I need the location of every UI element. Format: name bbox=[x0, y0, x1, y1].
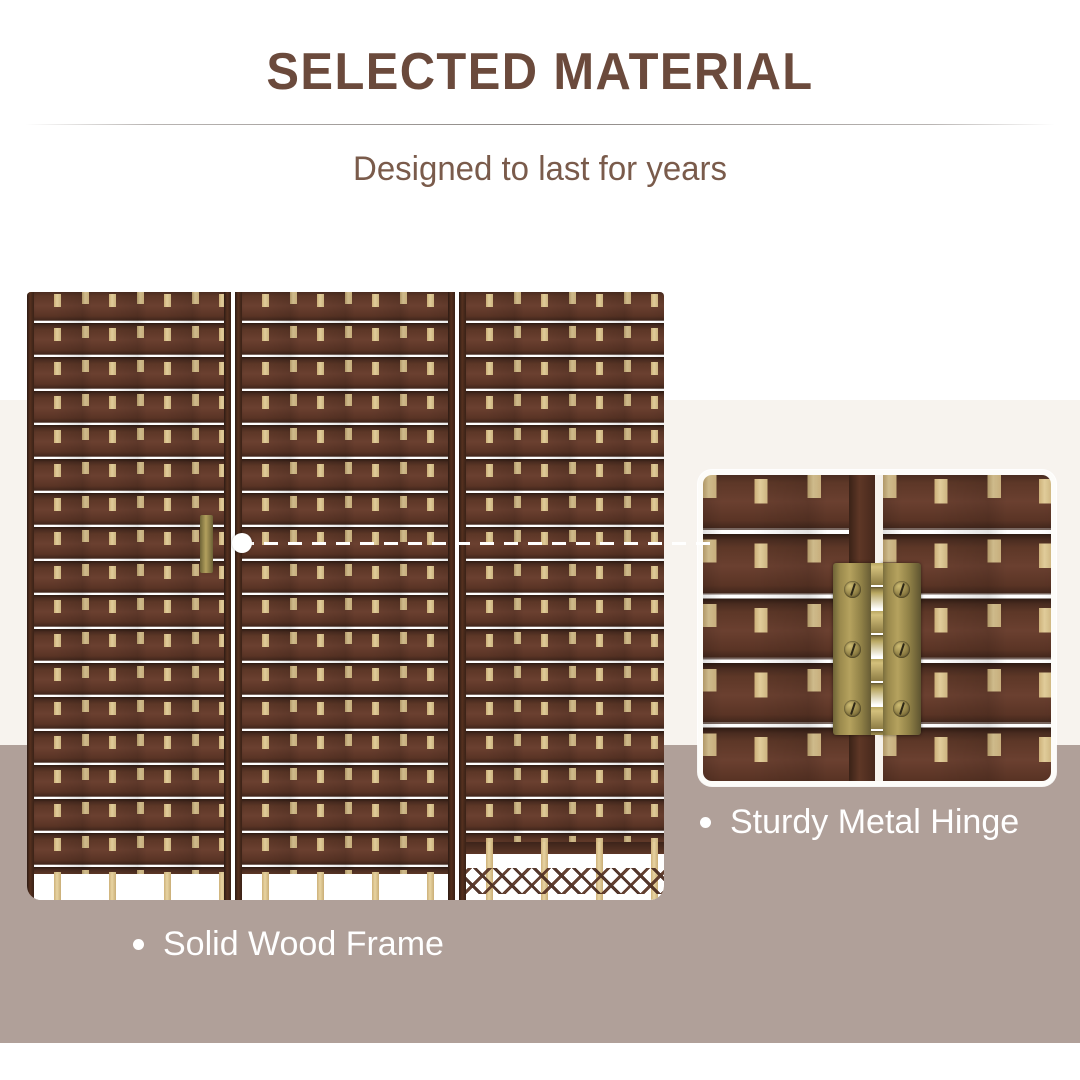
title-divider-rule bbox=[25, 124, 1055, 125]
caption-sturdy-metal-hinge: Sturdy Metal Hinge bbox=[700, 803, 1019, 842]
weave-shading bbox=[27, 292, 231, 900]
caption-frame-label: Solid Wood Frame bbox=[163, 925, 444, 964]
weave-texture bbox=[459, 292, 664, 900]
page-title: SELECTED MATERIAL bbox=[32, 42, 1047, 102]
callout-anchor-dot-icon bbox=[232, 533, 252, 553]
panel-bottom-legs-right bbox=[459, 842, 664, 900]
main-photo-hinge-marker bbox=[200, 515, 213, 573]
panel-bottom-legs-middle bbox=[235, 874, 455, 900]
weave-texture bbox=[235, 292, 455, 900]
hinge-screw bbox=[844, 700, 861, 717]
hinge-screw bbox=[844, 641, 861, 658]
hinge-screw bbox=[893, 700, 910, 717]
panel-frame-edge-left bbox=[459, 292, 466, 900]
divider-panel-middle bbox=[235, 292, 455, 900]
band-footer-white bbox=[0, 1043, 1080, 1080]
weave-texture bbox=[27, 292, 231, 900]
hinge-detail-photo bbox=[698, 470, 1056, 786]
weave-shading bbox=[459, 292, 664, 900]
main-product-photo bbox=[27, 292, 664, 900]
bullet-dot-icon bbox=[133, 939, 144, 950]
hinge-screw bbox=[893, 641, 910, 658]
hinge-knuckles bbox=[871, 563, 883, 735]
panel-frame-edge-left bbox=[235, 292, 242, 900]
panel-frame-edge-right bbox=[448, 292, 455, 900]
caption-hinge-label: Sturdy Metal Hinge bbox=[730, 803, 1019, 842]
leg-x-weave-ends bbox=[459, 868, 664, 894]
divider-panel-left bbox=[27, 292, 231, 900]
hinge-screw bbox=[844, 581, 861, 598]
leg-vertical-strips bbox=[27, 874, 231, 900]
page-subtitle: Designed to last for years bbox=[16, 150, 1064, 189]
panel-bottom-legs-left bbox=[27, 874, 231, 900]
caption-solid-wood-frame: Solid Wood Frame bbox=[133, 925, 444, 964]
bullet-dot-icon bbox=[700, 817, 711, 828]
panel-gap-right bbox=[455, 292, 459, 900]
panel-frame-edge-left bbox=[27, 292, 34, 900]
leg-vertical-strips bbox=[235, 874, 455, 900]
panel-frame-edge-right bbox=[224, 292, 231, 900]
hinge-screw bbox=[893, 581, 910, 598]
callout-dashed-line-icon bbox=[240, 542, 710, 545]
panel-gap-left bbox=[231, 292, 235, 900]
divider-panel-right bbox=[459, 292, 664, 900]
weave-shading bbox=[235, 292, 455, 900]
brass-hinge-icon bbox=[833, 563, 925, 735]
header: SELECTED MATERIAL Designed to last for y… bbox=[0, 0, 1080, 189]
